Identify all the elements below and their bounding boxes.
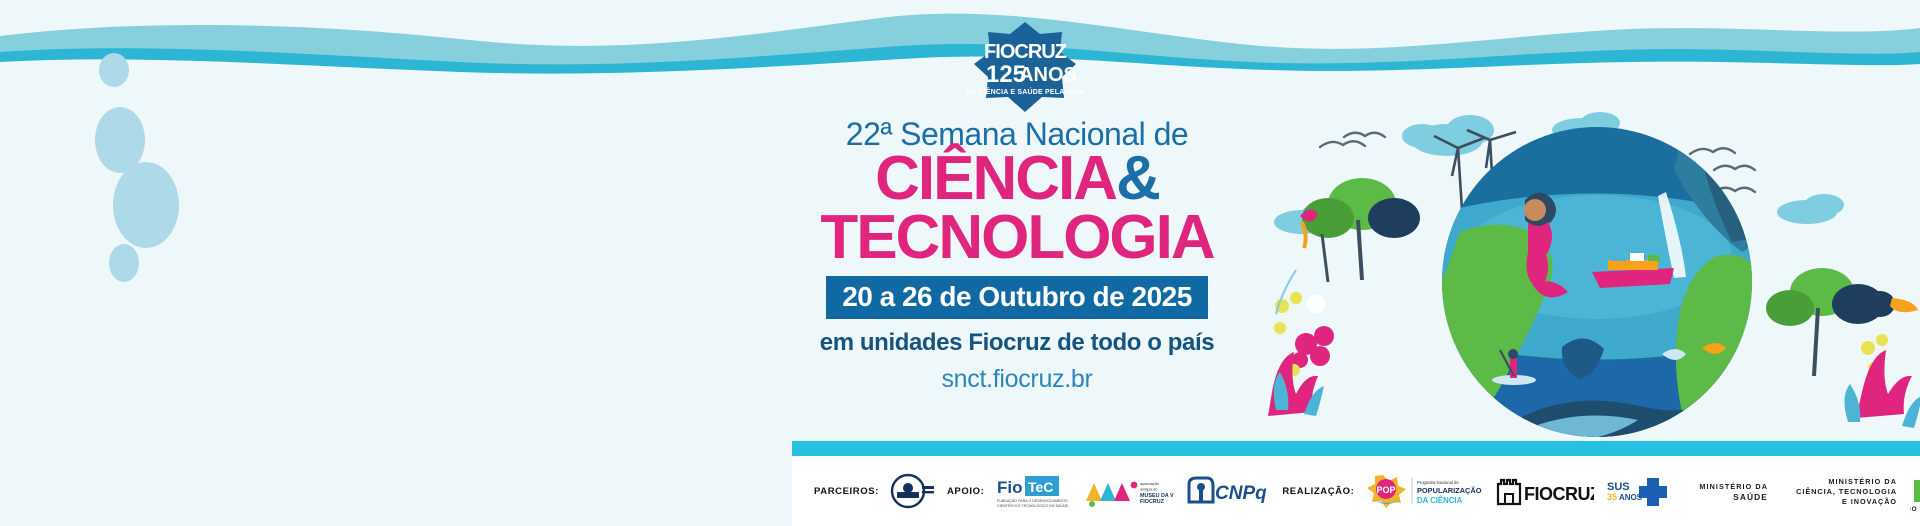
cnpq-logo: CNPq <box>1185 474 1271 508</box>
svg-text:Programa Nacional de: Programa Nacional de <box>1417 480 1459 485</box>
coral-right <box>1856 350 1912 418</box>
globe-ocean-illustration <box>1262 92 1920 447</box>
fiotec-logo: Fio TeC FUNDAÇÃO PARA O DESENVOLVIMENTO … <box>995 471 1071 511</box>
title-line-ciencia: CIÊNCIA& <box>792 150 1242 209</box>
governo-brasil-logo: GOVERNO DO BRASIL DO LADO DO POVO BRASIL… <box>1910 467 1920 515</box>
seal-tagline: DE CIÊNCIA E SAÚDE PELA VIDA <box>966 87 1084 96</box>
footer-label-parceiros: PARCEIROS: <box>814 486 879 497</box>
seal-anos: ANOS <box>1019 64 1077 86</box>
svg-text:CIÊNCIA, TECNOLOGIA: CIÊNCIA, TECNOLOGIA <box>1797 487 1898 496</box>
fiocruz-125-anos-seal: FIOCRUZ 125 ANOS DE CIÊNCIA E SAÚDE PELA… <box>966 22 1084 112</box>
ministerio-cti-logo: MINISTÉRIO DA CIÊNCIA, TECNOLOGIA E INOV… <box>1781 473 1899 509</box>
svg-text:E INOVAÇÃO: E INOVAÇÃO <box>1842 497 1897 506</box>
seal-line1: FIOCRUZ <box>984 41 1067 63</box>
svg-text:FUNDAÇÃO PARA O DESENVOLVIMENT: FUNDAÇÃO PARA O DESENVOLVIMENTO <box>997 498 1068 503</box>
footer-accent-strip <box>792 441 1920 456</box>
svg-text:MINISTÉRIO DA: MINISTÉRIO DA <box>1829 477 1898 486</box>
fiocruz-castle-logo: FIOCRUZ <box>1494 474 1594 508</box>
flora-right <box>1766 268 1920 428</box>
turtle <box>1402 405 1490 439</box>
event-units-line: em unidades Fiocruz de todo o país <box>792 329 1242 357</box>
svg-text:TeC: TeC <box>1028 479 1053 495</box>
svg-text:Fio: Fio <box>997 478 1023 497</box>
svg-text:DO LADO DO POVO BRASILEIRO: DO LADO DO POVO BRASILEIRO <box>1910 506 1920 513</box>
svg-text:FIOCRUZ: FIOCRUZ <box>1524 484 1594 504</box>
ministerio-saude-logo: MINISTÉRIO DA SAÚDE <box>1678 476 1770 506</box>
svg-text:MINISTÉRIO DA: MINISTÉRIO DA <box>1700 482 1769 491</box>
event-date-band: 20 a 26 de Outubro de 2025 <box>826 276 1208 319</box>
title-line-tecnologia: TECNOLOGIA <box>792 209 1242 268</box>
svg-text:POP: POP <box>1377 485 1396 495</box>
svg-text:SAÚDE: SAÚDE <box>1734 491 1769 502</box>
svg-text:CIENTÍFICO E TECNOLÓGICO EM SA: CIENTÍFICO E TECNOLÓGICO EM SAÚDE <box>997 503 1069 508</box>
svg-text:FIOCRUZ: FIOCRUZ <box>1140 499 1165 505</box>
event-website[interactable]: snct.fiocruz.br <box>792 365 1242 394</box>
svg-text:CNPq: CNPq <box>1215 483 1267 504</box>
footer-label-apoio: APOIO: <box>947 486 984 497</box>
bubbles-decoration <box>0 0 400 300</box>
svg-text:DA CIÊNCIA: DA CIÊNCIA <box>1417 496 1463 505</box>
svg-text:amigos do: amigos do <box>1140 488 1158 492</box>
sus-35-anos-logo: SUS 35 ANOS <box>1605 474 1667 508</box>
toucan <box>1865 291 1918 317</box>
pop-ciencia-logo: POP Programa Nacional de POPULARIZAÇÃO D… <box>1365 471 1483 511</box>
interacao-logo <box>890 468 936 514</box>
svg-text:35: 35 <box>1607 492 1617 502</box>
svg-text:associação: associação <box>1140 482 1159 486</box>
headline-block: 22ª Semana Nacional de CIÊNCIA& TECNOLOG… <box>792 118 1242 394</box>
amigos-museu-vida-logo: associação amigos do MUSEU DA VIDA FIOCR… <box>1082 473 1174 509</box>
footer-logos-bar: PARCEIROS: APOIO: Fio TeC FUNDAÇÃO PARA … <box>792 456 1920 526</box>
svg-text:POPULARIZAÇÃO: POPULARIZAÇÃO <box>1417 486 1482 495</box>
footer-label-realizacao: REALIZAÇÃO: <box>1282 486 1354 497</box>
